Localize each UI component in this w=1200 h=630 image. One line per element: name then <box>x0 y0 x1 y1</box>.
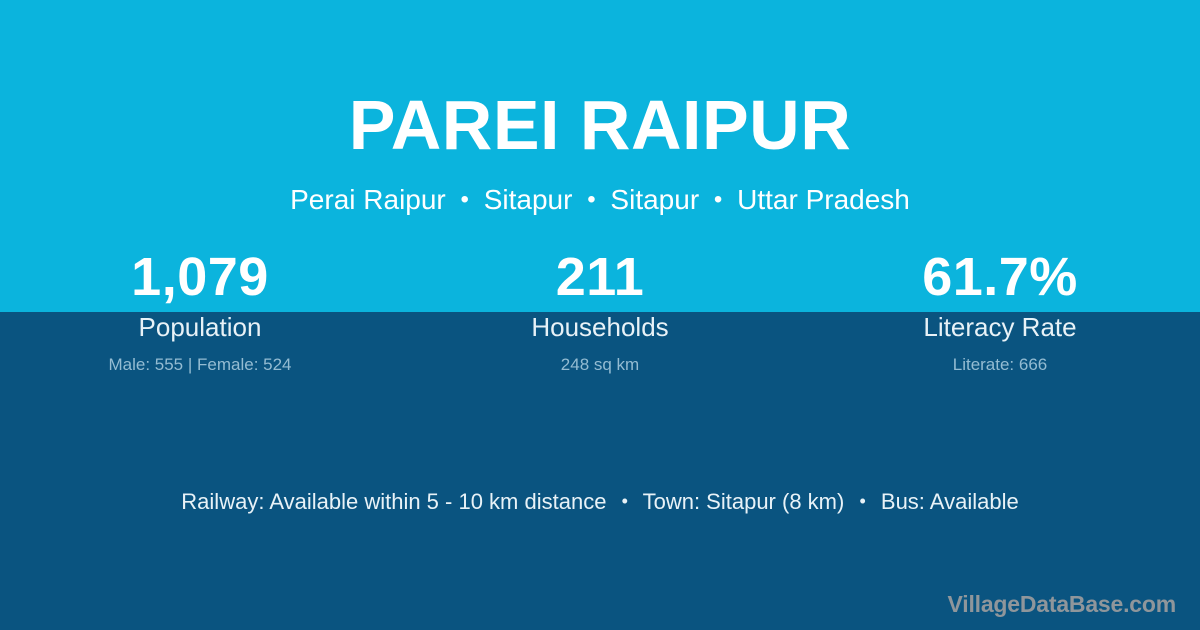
amenity-town: Town: Sitapur (8 km) <box>643 489 845 514</box>
stat-sub-literacy-rate: Literate: 666 <box>800 354 1200 376</box>
breadcrumb-item-state: Uttar Pradesh <box>737 184 910 215</box>
stat-population: 1,079 Population Male: 555 | Female: 524 <box>0 246 400 376</box>
breadcrumb-separator: • <box>454 186 476 213</box>
page-title: PAREI RAIPUR <box>0 84 1200 166</box>
stat-literacy-rate: 61.7% Literacy Rate Literate: 666 <box>800 246 1200 376</box>
stat-sub-population: Male: 555 | Female: 524 <box>0 354 400 376</box>
breadcrumb-item-village: Perai Raipur <box>290 184 446 215</box>
amenity-separator: • <box>850 491 874 511</box>
village-info-card: PAREI RAIPUR Perai Raipur • Sitapur • Si… <box>0 0 1200 630</box>
amenity-separator: • <box>613 491 637 511</box>
amenities-line: Railway: Available within 5 - 10 km dist… <box>0 486 1200 517</box>
stat-label-literacy-rate: Literacy Rate <box>800 311 1200 343</box>
stat-sub-households: 248 sq km <box>400 354 800 376</box>
stat-value-population: 1,079 <box>0 246 400 308</box>
stat-value-households: 211 <box>400 246 800 308</box>
amenity-railway: Railway: Available within 5 - 10 km dist… <box>181 489 606 514</box>
breadcrumb-item-district: Sitapur <box>610 184 699 215</box>
breadcrumb: Perai Raipur • Sitapur • Sitapur • Uttar… <box>0 183 1200 217</box>
card-content: PAREI RAIPUR Perai Raipur • Sitapur • Si… <box>0 0 1200 630</box>
breadcrumb-separator: • <box>580 186 602 213</box>
breadcrumb-separator: • <box>707 186 729 213</box>
stat-households: 211 Households 248 sq km <box>400 246 800 376</box>
site-watermark: VillageDataBase.com <box>948 590 1176 618</box>
breadcrumb-item-block: Sitapur <box>484 184 573 215</box>
stat-label-households: Households <box>400 311 800 343</box>
amenity-bus: Bus: Available <box>881 489 1019 514</box>
stats-row: 1,079 Population Male: 555 | Female: 524… <box>0 246 1200 376</box>
stat-label-population: Population <box>0 311 400 343</box>
stat-value-literacy-rate: 61.7% <box>800 246 1200 308</box>
